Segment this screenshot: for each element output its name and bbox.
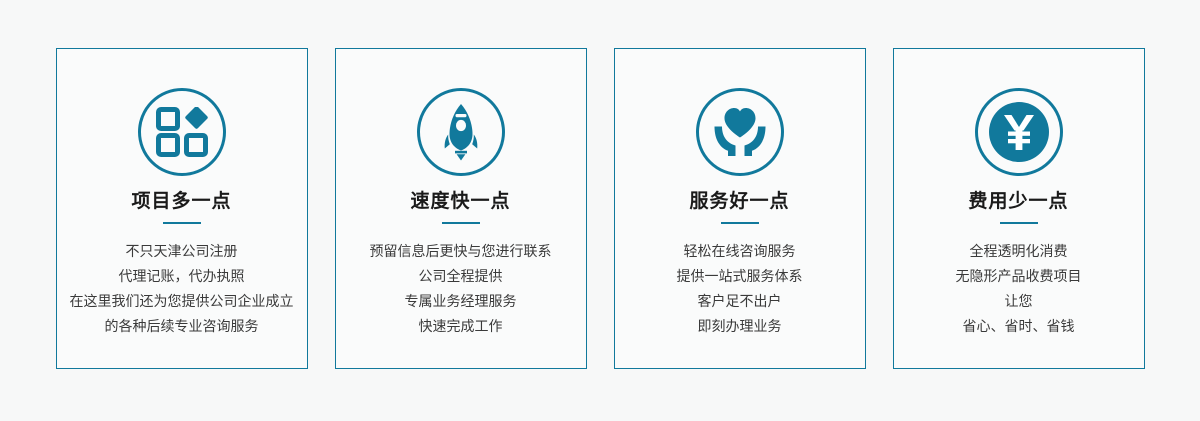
- grid-squares-icon: [138, 88, 226, 176]
- hands-heart-icon: [696, 88, 784, 176]
- card-title: 项目多一点: [131, 192, 231, 211]
- title-divider: [721, 222, 759, 224]
- title-divider: [1000, 222, 1038, 224]
- card-body-line: 快速完成工作: [336, 314, 586, 339]
- feature-card-service[interactable]: 服务好一点 轻松在线咨询服务 提供一站式服务体系 客户足不出户 即刻办理业务: [614, 48, 866, 369]
- card-body-line: 即刻办理业务: [615, 314, 865, 339]
- card-title: 费用少一点: [968, 192, 1068, 211]
- card-body-line: 代理记账，代办执照: [57, 264, 307, 289]
- rocket-icon: [417, 88, 505, 176]
- card-body-line: 让您: [894, 289, 1144, 314]
- card-body-line: 的各种后续专业咨询服务: [57, 314, 307, 339]
- card-body-line: 省心、省时、省钱: [894, 314, 1144, 339]
- card-body-line: 专属业务经理服务: [336, 289, 586, 314]
- card-body: 预留信息后更快与您进行联系 公司全程提供 专属业务经理服务 快速完成工作: [336, 239, 586, 339]
- feature-card-grid: 项目多一点 不只天津公司注册 代理记账，代办执照 在这里我们还为您提供公司企业成…: [0, 0, 1200, 421]
- card-body-line: 不只天津公司注册: [57, 239, 307, 264]
- card-body: 轻松在线咨询服务 提供一站式服务体系 客户足不出户 即刻办理业务: [615, 239, 865, 339]
- feature-card-speed[interactable]: 速度快一点 预留信息后更快与您进行联系 公司全程提供 专属业务经理服务 快速完成…: [335, 48, 587, 369]
- card-body-line: 在这里我们还为您提供公司企业成立: [57, 289, 307, 314]
- card-body: 全程透明化消费 无隐形产品收费项目 让您 省心、省时、省钱: [894, 239, 1144, 339]
- card-body-line: 公司全程提供: [336, 264, 586, 289]
- card-title: 服务好一点: [689, 192, 789, 211]
- card-body-line: 无隐形产品收费项目: [894, 264, 1144, 289]
- title-divider: [442, 222, 480, 224]
- card-body-line: 轻松在线咨询服务: [615, 239, 865, 264]
- card-title: 速度快一点: [410, 192, 510, 211]
- title-divider: [163, 222, 201, 224]
- feature-card-cost[interactable]: 费用少一点 全程透明化消费 无隐形产品收费项目 让您 省心、省时、省钱: [893, 48, 1145, 369]
- card-body-line: 客户足不出户: [615, 289, 865, 314]
- card-body-line: 提供一站式服务体系: [615, 264, 865, 289]
- card-body-line: 预留信息后更快与您进行联系: [336, 239, 586, 264]
- card-body: 不只天津公司注册 代理记账，代办执照 在这里我们还为您提供公司企业成立 的各种后…: [57, 239, 307, 339]
- card-body-line: 全程透明化消费: [894, 239, 1144, 264]
- feature-card-projects[interactable]: 项目多一点 不只天津公司注册 代理记账，代办执照 在这里我们还为您提供公司企业成…: [56, 48, 308, 369]
- yuan-currency-icon: [975, 88, 1063, 176]
